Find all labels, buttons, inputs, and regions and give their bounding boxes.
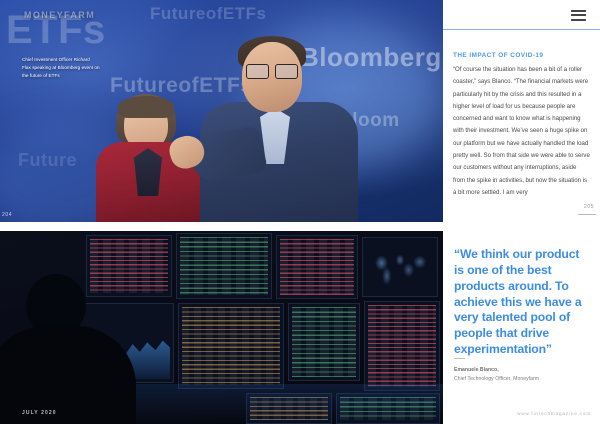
desk-glow bbox=[120, 384, 443, 424]
trading-monitor bbox=[276, 235, 358, 299]
folio-left-top: 204 bbox=[2, 212, 12, 218]
monitor-rows bbox=[180, 237, 268, 295]
trading-monitor bbox=[364, 301, 440, 391]
trading-monitor bbox=[288, 303, 360, 381]
section-kicker: THE IMPACT OF COVID-19 bbox=[453, 52, 590, 59]
photo-bloomberg-panel: ETFs FutureofETFs Bloomberg FutureofETFs… bbox=[0, 0, 443, 222]
backdrop-word-7: Future bbox=[18, 150, 77, 171]
attribution-role: Chief Technology Officer, Moneyfarm bbox=[454, 375, 594, 384]
article-body: THE IMPACT OF COVID-19 “Of course the si… bbox=[443, 30, 600, 199]
website-url: www.fintechmagazine.com bbox=[517, 411, 591, 416]
world-map-graphic bbox=[367, 242, 433, 292]
trading-monitor bbox=[176, 233, 272, 299]
woman-hair-front bbox=[118, 96, 174, 118]
image-column: ETFs FutureofETFs Bloomberg FutureofETFs… bbox=[0, 0, 443, 424]
monitor-rows bbox=[182, 307, 280, 385]
monitor-rows bbox=[368, 305, 436, 387]
hamburger-bar-2 bbox=[571, 14, 586, 16]
silhouette-shoulders bbox=[0, 326, 136, 424]
page-header bbox=[443, 0, 600, 30]
pull-quote: “We think our product is one of the best… bbox=[454, 247, 590, 358]
backdrop-word-5: FutureofETFs bbox=[150, 4, 267, 24]
text-column: THE IMPACT OF COVID-19 “Of course the si… bbox=[443, 0, 600, 424]
trading-monitor bbox=[362, 237, 438, 297]
monitor-rows bbox=[292, 307, 356, 377]
hamburger-bar-3 bbox=[571, 19, 586, 21]
hamburger-menu-icon[interactable] bbox=[571, 10, 586, 21]
folio-right: 205 bbox=[584, 204, 594, 210]
trading-monitor bbox=[178, 303, 284, 389]
issue-date-label: JULY 2020 bbox=[22, 410, 57, 416]
woman-top bbox=[134, 148, 162, 196]
attribution-name: Emanuele Blanco, bbox=[454, 366, 594, 375]
trader-silhouette bbox=[0, 274, 136, 424]
photo-trading-desk: JULY 2020 bbox=[0, 231, 443, 424]
man-glasses bbox=[246, 64, 298, 77]
magazine-spread: ETFs FutureofETFs Bloomberg FutureofETFs… bbox=[0, 0, 600, 424]
quote-attribution: Emanuele Blanco, Chief Technology Office… bbox=[454, 366, 594, 384]
photo-caption: Chief Investment Officer Richard Flax sp… bbox=[22, 56, 100, 80]
quote-divider bbox=[454, 358, 465, 359]
photo-divider bbox=[0, 222, 443, 231]
folio-rule bbox=[578, 214, 596, 215]
speaker-man-figure bbox=[196, 36, 362, 222]
article-paragraph: “Of course the situation has been a bit … bbox=[453, 64, 590, 199]
brand-watermark: MONEYFARM bbox=[24, 10, 95, 20]
monitor-rows bbox=[280, 239, 354, 295]
hamburger-bar-1 bbox=[571, 10, 586, 12]
